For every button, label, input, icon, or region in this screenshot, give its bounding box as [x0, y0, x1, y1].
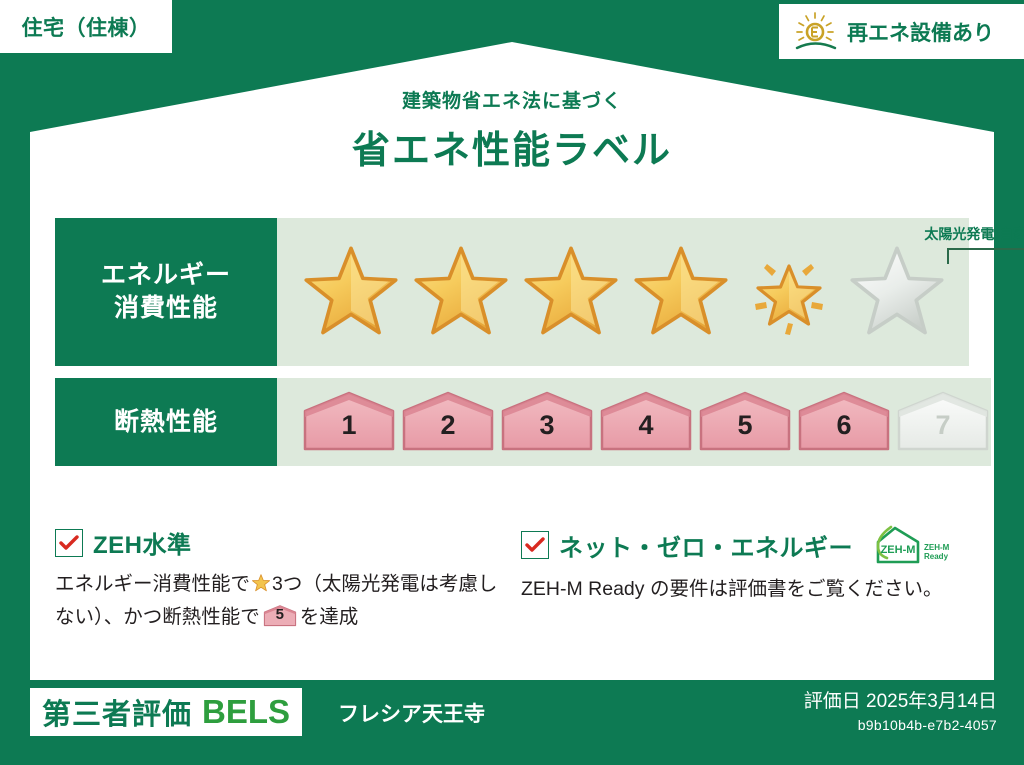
- net-zero-energy-block: ネット・ゼロ・エネルギー ZEH-M ZEH-M Ready ZEH-M Rea…: [521, 525, 975, 632]
- energy-row-header: エネルギー 消費性能: [55, 218, 277, 366]
- bels-badge: 第三者評価 BELS: [30, 688, 302, 736]
- performance-rows: エネルギー 消費性能: [55, 218, 969, 466]
- checkbox-checked-icon-2: [521, 531, 549, 559]
- svg-text:ZEH-M: ZEH-M: [881, 544, 916, 556]
- star-filled-1: [299, 240, 403, 344]
- evaluation-date: 評価日 2025年3月14日: [804, 686, 997, 713]
- renewable-equipment-badge: 再エネ設備あり: [779, 4, 1024, 59]
- energy-performance-label: 住宅（住棟） 再エネ設備あり 建築物省エネ法に基づく 省エネ性能ラベル: [0, 0, 1024, 765]
- building-name: フレシア天王寺: [338, 698, 485, 728]
- energy-row-body: 太陽光発電(自家消費)分: [277, 218, 969, 366]
- solar-annotation-bracket: [947, 248, 1024, 264]
- insulation-level-5-number: 5: [737, 410, 752, 453]
- zeh-body-part3: を達成: [300, 606, 359, 628]
- insulation-level-4: 4: [598, 391, 694, 453]
- zeh-body-part1: エネルギー消費性能で: [55, 573, 250, 595]
- insulation-level-6-number: 6: [836, 410, 851, 453]
- energy-row-header-line1: エネルギー: [101, 259, 231, 292]
- insulation-level-4-number: 4: [638, 410, 653, 453]
- insulation-level-1-number: 1: [341, 410, 356, 453]
- insulation-level-1: 1: [301, 391, 397, 453]
- insulation-row-body: 1 2 3: [277, 378, 991, 466]
- star-filled-3: [519, 240, 623, 344]
- solar-annotation: 太陽光発電(自家消費)分: [899, 224, 1024, 264]
- insulation-level-2: 2: [400, 391, 496, 453]
- zeh-standard-block: ZEH水準 エネルギー消費性能で3つ（太陽光発電は考慮しない）、かつ断熱性能で5…: [55, 525, 509, 632]
- label-main-title: 省エネ性能ラベル: [0, 119, 1024, 174]
- insulation-performance-row: 断熱性能 1: [55, 378, 969, 466]
- zeh-standard-header: ZEH水準: [55, 525, 509, 560]
- net-zero-energy-body: ZEH-M Ready の要件は評価書をご覧ください。: [521, 574, 975, 604]
- net-zero-energy-title: ネット・ゼロ・エネルギー: [559, 528, 853, 563]
- insulation-level-3-number: 3: [539, 410, 554, 453]
- star-filled-5-solar: [739, 242, 839, 342]
- insulation-level-7: 7: [895, 391, 991, 453]
- checkbox-checked-icon: [55, 529, 83, 557]
- zeh-standard-body: エネルギー消費性能で3つ（太陽光発電は考慮しない）、かつ断熱性能で5を達成: [55, 569, 509, 632]
- star-rating: [277, 240, 949, 344]
- category-chip: 住宅（住棟）: [0, 0, 172, 53]
- insulation-row-header: 断熱性能: [55, 378, 277, 466]
- label-footer: 第三者評価 BELS フレシア天王寺 評価日 2025年3月14日 b9b10b…: [0, 680, 1024, 765]
- solar-annotation-label: 太陽光発電(自家消費)分: [899, 224, 1024, 244]
- insulation-level-6: 6: [796, 391, 892, 453]
- label-title-block: 建築物省エネ法に基づく 省エネ性能ラベル: [0, 86, 1024, 174]
- solar-sun-icon: [793, 11, 839, 53]
- zeh-standard-title: ZEH水準: [93, 525, 192, 560]
- star-filled-2: [409, 240, 513, 344]
- inline-insulation-badge-number: 5: [263, 603, 297, 626]
- energy-performance-row: エネルギー 消費性能: [55, 218, 969, 366]
- zeh-m-house-icon: ZEH-M: [869, 525, 921, 565]
- bels-en-label: BELS: [202, 693, 290, 731]
- net-zero-energy-header: ネット・ゼロ・エネルギー ZEH-M ZEH-M Ready: [521, 525, 975, 565]
- insulation-level-5: 5: [697, 391, 793, 453]
- insulation-level-scale: 1 2 3: [277, 391, 991, 453]
- insulation-level-7-number: 7: [935, 410, 950, 453]
- evaluation-meta: 評価日 2025年3月14日 b9b10b4b-e7b2-4057: [804, 686, 997, 733]
- zeh-m-logo-sub-line2: Ready: [924, 553, 949, 561]
- info-blocks: ZEH水準 エネルギー消費性能で3つ（太陽光発電は考慮しない）、かつ断熱性能で5…: [55, 525, 975, 632]
- insulation-level-3: 3: [499, 391, 595, 453]
- label-subtitle: 建築物省エネ法に基づく: [0, 86, 1024, 113]
- zeh-m-logo: ZEH-M ZEH-M Ready: [869, 525, 949, 565]
- evaluation-id: b9b10b4b-e7b2-4057: [804, 717, 997, 733]
- energy-row-header-line2: 消費性能: [101, 292, 231, 325]
- inline-insulation-badge: 5: [263, 605, 297, 627]
- star-filled-4: [629, 240, 733, 344]
- renewable-badge-label: 再エネ設備あり: [847, 17, 994, 47]
- category-chip-label: 住宅（住棟）: [22, 12, 151, 42]
- inline-star-icon: [251, 572, 271, 602]
- bels-jp-label: 第三者評価: [42, 691, 192, 733]
- insulation-level-2-number: 2: [440, 410, 455, 453]
